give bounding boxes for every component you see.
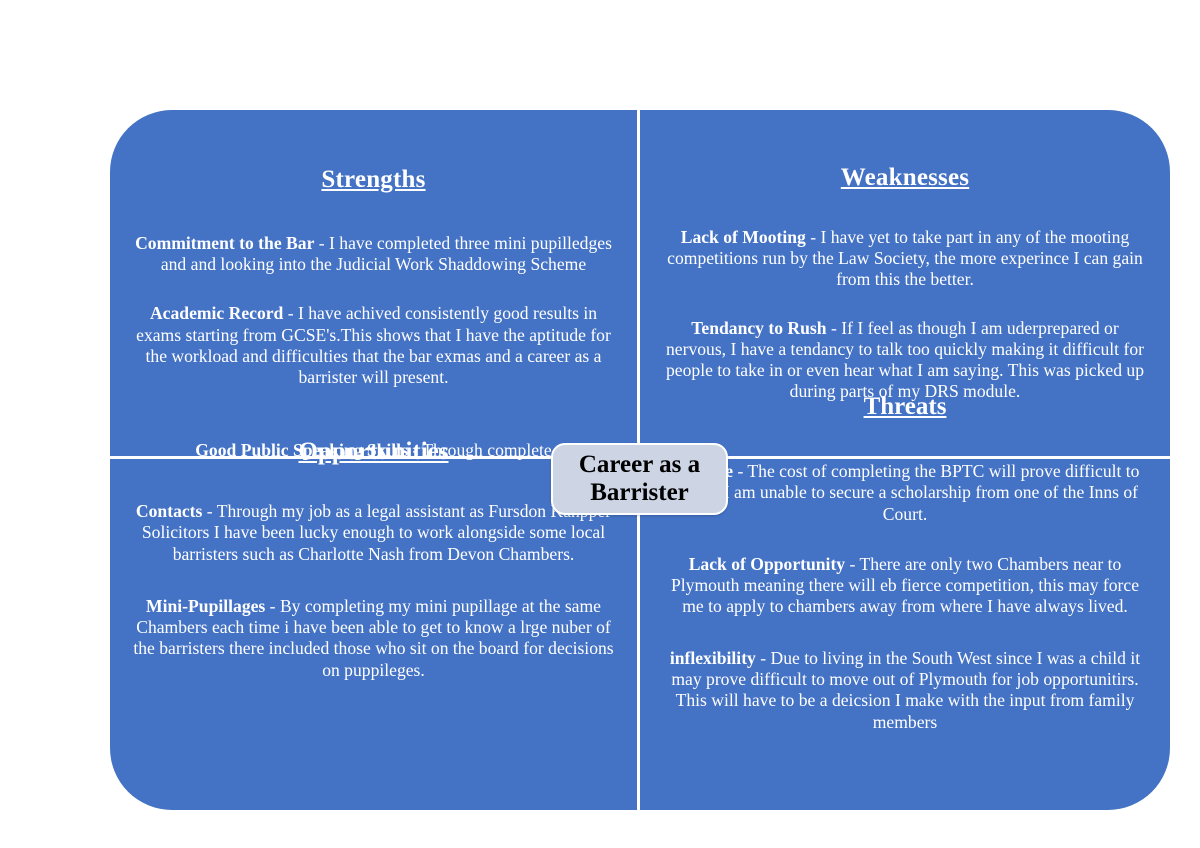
- threats-item-2-label: Lack of Opportunity: [689, 554, 845, 574]
- threats-item-3: inflexibility - Due to living in the Sou…: [662, 648, 1148, 733]
- threats-item-1: Expense - The cost of completing the BPT…: [662, 461, 1148, 525]
- opportunities-item-1-separator: -: [202, 501, 216, 521]
- weaknesses-item-1-label: Lack of Mooting: [681, 227, 806, 247]
- strengths-item-1-separator: -: [314, 233, 329, 253]
- quadrant-strengths: Strengths Commitment to the Bar - I have…: [110, 120, 637, 456]
- strengths-item-2: Academic Record - I have achived consist…: [128, 303, 619, 388]
- strengths-item-1: Commitment to the Bar - I have completed…: [128, 233, 619, 276]
- weaknesses-item-2-separator: -: [827, 318, 842, 338]
- opportunities-item-2: Mini-Pupillages - By completing my mini …: [128, 596, 619, 681]
- opportunities-item-2-separator: -: [265, 596, 280, 616]
- strengths-item-2-label: Academic Record: [150, 303, 283, 323]
- center-label-text: Career as a Barrister: [579, 451, 700, 507]
- weaknesses-item-2: Tendancy to Rush - If I feel as though I…: [664, 318, 1146, 403]
- weaknesses-item-2-label: Tendancy to Rush: [691, 318, 826, 338]
- weaknesses-heading: Weaknesses: [664, 164, 1146, 193]
- weaknesses-item-1-separator: -: [806, 227, 821, 247]
- threats-item-3-separator: -: [756, 648, 771, 668]
- threats-item-2-separator: -: [845, 554, 859, 574]
- opportunities-item-1: Contacts - Through my job as a legal ass…: [128, 501, 619, 565]
- strengths-item-1-label: Commitment to the Bar: [135, 233, 314, 253]
- threats-item-2: Lack of Opportunity - There are only two…: [662, 554, 1148, 618]
- threats-heading: Threats: [640, 393, 1170, 422]
- strengths-item-2-separator: -: [283, 303, 298, 323]
- opportunities-item-1-label: Contacts: [136, 501, 202, 521]
- opportunities-item-2-label: Mini-Pupillages: [146, 596, 265, 616]
- weaknesses-item-1: Lack of Mooting - I have yet to take par…: [664, 227, 1146, 291]
- swot-diagram-canvas: Strengths Commitment to the Bar - I have…: [0, 0, 1200, 848]
- threats-item-3-label: inflexibility: [670, 648, 756, 668]
- threats-item-1-separator: -: [733, 461, 747, 481]
- center-label-line-1: Career as a: [579, 451, 700, 479]
- center-label-line-2: Barrister: [579, 479, 700, 507]
- center-label-box: Career as a Barrister: [551, 443, 728, 515]
- strengths-heading: Strengths: [128, 166, 619, 195]
